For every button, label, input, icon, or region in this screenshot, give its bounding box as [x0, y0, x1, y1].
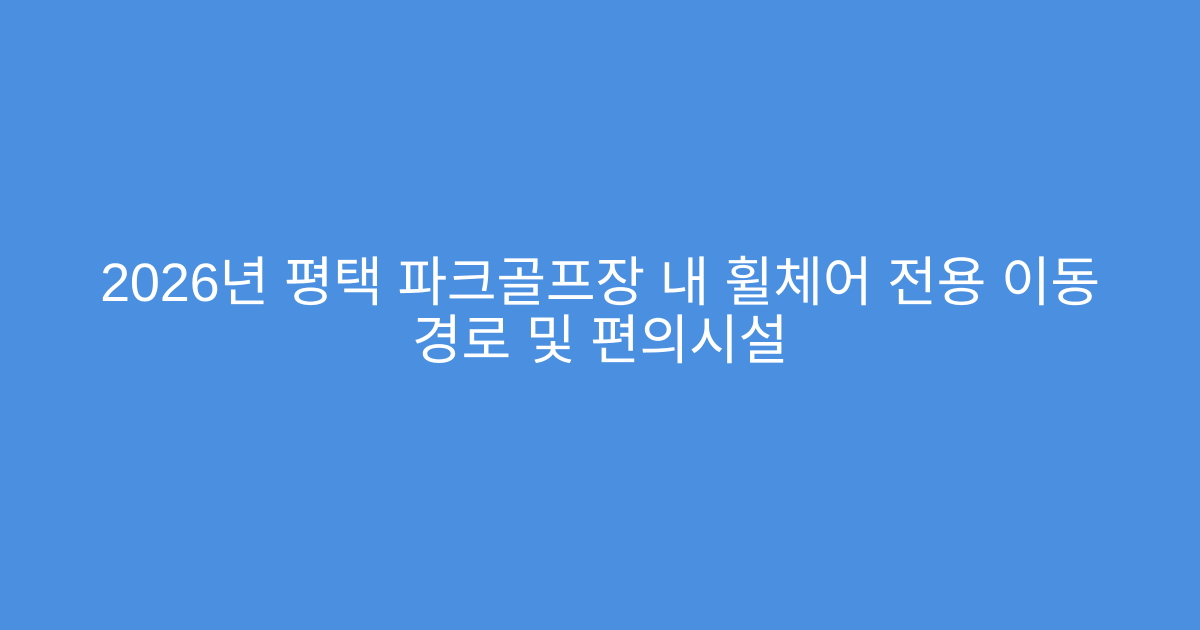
page-title: 2026년 평택 파크골프장 내 휠체어 전용 이동 경로 및 편의시설: [64, 254, 1136, 371]
title-block: 2026년 평택 파크골프장 내 휠체어 전용 이동 경로 및 편의시설: [40, 254, 1160, 371]
og-title-card: 2026년 평택 파크골프장 내 휠체어 전용 이동 경로 및 편의시설: [0, 0, 1200, 630]
